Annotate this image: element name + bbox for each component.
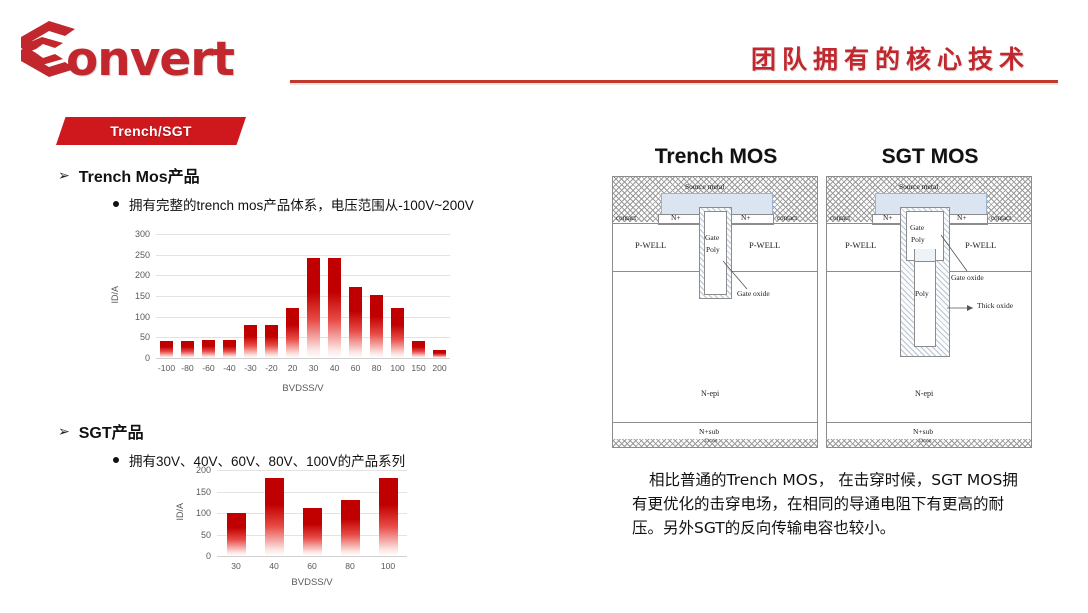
trench-gate-oxide-label: Gate oxide: [737, 289, 770, 298]
bar-60: [303, 508, 322, 556]
x-tick-label: 20: [288, 363, 298, 373]
subbullet-trench-mos-label: 拥有完整的trench mos产品体系，电压范围从-100V~200V: [129, 194, 474, 214]
x-tick-label: 40: [269, 561, 279, 571]
arrow-bullet-icon: ➢: [58, 424, 70, 438]
x-tick-label: 30: [309, 363, 319, 373]
y-tick-label: 200: [189, 465, 211, 475]
x-tick-label: -80: [181, 363, 193, 373]
sgt-poly-label: Poly: [915, 289, 929, 298]
bar-200: [433, 350, 446, 358]
bar-80: [341, 500, 360, 556]
trench-drain-label: Drain: [705, 438, 718, 444]
x-tick-label: -100: [158, 363, 175, 373]
trench-contact-right-label: contact: [777, 214, 797, 222]
sgt-shield-poly-body: [914, 261, 936, 347]
trench-gate-poly-label-1: Gate: [705, 233, 719, 242]
diagram-title-sgt: SGT MOS: [826, 145, 1034, 169]
bar--100: [160, 341, 173, 358]
chart-trench-mos: ID/A 050100150200250300-100-80-60-40-30-…: [110, 228, 458, 396]
chart-trench-mos-xlabel: BVDSS/V: [156, 383, 450, 394]
bar-60: [349, 287, 362, 358]
subbullet-trench-mos: 拥有完整的trench mos产品体系，电压范围从-100V~200V: [113, 194, 474, 214]
comparison-paragraph: 相比普通的Trench MOS， 在击穿时候，SGT MOS拥有更优化的击穿电场…: [632, 468, 1022, 540]
x-tick-label: 30: [231, 561, 241, 571]
sgt-contact-left-label: contact: [830, 214, 850, 222]
sgt-drain-label: Drain: [919, 438, 932, 444]
y-tick-label: 50: [189, 530, 211, 540]
gridline-250: [156, 255, 450, 256]
chart-sgt: ID/A 05010015020030406080100 BVDSS/V: [175, 465, 425, 590]
diagram-sgt-mos: Source metal contact contact N+ N+ P-WEL…: [826, 176, 1032, 448]
trench-nepi-label: N-epi: [701, 389, 719, 398]
sgt-gate-poly-label-2: Poly: [911, 235, 925, 244]
x-tick-label: 60: [351, 363, 361, 373]
chart-sgt-xlabel: BVDSS/V: [217, 577, 407, 588]
y-tick-label: 50: [128, 332, 150, 342]
gridline-0: [156, 358, 450, 359]
x-tick-label: 200: [432, 363, 446, 373]
chart-trench-mos-plot: 050100150200250300-100-80-60-40-30-20203…: [156, 234, 450, 358]
sgt-nplus-right-label: N+: [957, 213, 967, 222]
bullet-trench-mos-label: Trench Mos产品: [79, 163, 200, 187]
bar--40: [223, 340, 236, 358]
gridline-50: [156, 337, 450, 338]
y-tick-label: 300: [128, 229, 150, 239]
sgt-gate-poly-label-1: Gate: [910, 223, 924, 232]
bar-20: [286, 308, 299, 358]
y-tick-label: 100: [189, 508, 211, 518]
bullet-sgt-label: SGT产品: [79, 419, 144, 443]
bar--30: [244, 325, 257, 358]
sgt-gate-oxide-label: Gate oxide: [951, 273, 984, 282]
bullet-trench-mos: ➢ Trench Mos产品: [58, 163, 200, 187]
y-tick-label: 250: [128, 250, 150, 260]
x-tick-label: 150: [411, 363, 425, 373]
bullet-sgt: ➢ SGT产品: [58, 419, 144, 443]
y-tick-label: 100: [128, 312, 150, 322]
y-tick-label: 0: [128, 353, 150, 363]
x-tick-label: 80: [372, 363, 382, 373]
y-tick-label: 150: [128, 291, 150, 301]
bar--60: [202, 340, 215, 358]
bar-30: [227, 513, 246, 556]
trench-pwell-left-label: P-WELL: [635, 240, 666, 250]
trench-gate-poly-label-2: Poly: [706, 245, 720, 254]
x-tick-label: -20: [265, 363, 277, 373]
gridline-200: [156, 275, 450, 276]
x-tick-label: 80: [345, 561, 355, 571]
sgt-nplus-left-label: N+: [883, 213, 893, 222]
sgt-contact-right-label: contact: [991, 214, 1011, 222]
x-tick-label: -30: [244, 363, 256, 373]
x-tick-label: 100: [381, 561, 395, 571]
sgt-thick-oxide-label: Thick oxide: [977, 301, 1013, 310]
sgt-gate-oxide-leader-icon: [939, 233, 979, 277]
bar-80: [370, 295, 383, 358]
bar-100: [391, 308, 404, 358]
x-tick-label: 100: [390, 363, 404, 373]
sgt-thick-oxide-leader-icon: [947, 302, 981, 314]
chart-sgt-ylabel: ID/A: [175, 503, 185, 521]
page-title: 团队拥有的核心技术: [751, 40, 1030, 76]
sgt-nsub-top-line: [827, 422, 1031, 423]
trench-nsub-top-line: [613, 422, 817, 423]
gridline-0: [217, 556, 407, 557]
trench-nplus-left-label: N+: [671, 213, 681, 222]
gridline-150: [156, 296, 450, 297]
trench-source-metal-label: Source metal: [685, 182, 724, 191]
section-tag-label: Trench/SGT: [110, 123, 192, 139]
bar-30: [307, 258, 320, 358]
y-tick-label: 0: [189, 551, 211, 561]
y-tick-label: 150: [189, 487, 211, 497]
x-tick-label: 60: [307, 561, 317, 571]
y-tick-label: 200: [128, 270, 150, 280]
sgt-source-metal-label: Source metal: [899, 182, 938, 191]
trench-nplus-right-label: N+: [741, 213, 751, 222]
diagram-trench-mos: Source metal contact contact N+ N+ P-WEL…: [612, 176, 818, 448]
arrow-bullet-icon: ➢: [58, 168, 70, 182]
x-tick-label: -60: [202, 363, 214, 373]
sgt-gate-poly-notch: [914, 249, 936, 261]
sgt-nepi-label: N-epi: [915, 389, 933, 398]
logo-wordmark: onvert: [66, 32, 234, 87]
dot-bullet-icon: [113, 201, 119, 207]
gridline-100: [156, 317, 450, 318]
brand-logo: onvert: [18, 18, 288, 80]
gridline-300: [156, 234, 450, 235]
trench-pwell-right-label: P-WELL: [749, 240, 780, 250]
chart-trench-mos-ylabel: ID/A: [110, 286, 120, 304]
trench-contact-left-label: contact: [616, 214, 636, 222]
slide-root: onvert 团队拥有的核心技术 Trench/SGT ➢ Trench Mos…: [0, 0, 1088, 613]
trench-nsub-label: N+sub: [699, 427, 719, 436]
dot-bullet-icon: [113, 457, 119, 463]
bar-100: [379, 478, 398, 556]
comparison-paragraph-text: 相比普通的Trench MOS， 在击穿时候，SGT MOS拥有更优化的击穿电场…: [632, 468, 1022, 540]
x-tick-label: 40: [330, 363, 340, 373]
diagram-title-trench: Trench MOS: [612, 145, 820, 169]
x-tick-label: -40: [223, 363, 235, 373]
chart-sgt-plot: 05010015020030406080100: [217, 470, 407, 556]
bar-40: [328, 258, 341, 358]
sgt-pwell-left-label: P-WELL: [845, 240, 876, 250]
bar--20: [265, 325, 278, 358]
section-tag-trench-sgt[interactable]: Trench/SGT: [56, 117, 246, 145]
header-rule-shadow: [290, 83, 1058, 85]
sgt-nsub-label: N+sub: [913, 427, 933, 436]
gridline-200: [217, 470, 407, 471]
bar-150: [412, 341, 425, 358]
bar-40: [265, 478, 284, 556]
bar--80: [181, 341, 194, 358]
